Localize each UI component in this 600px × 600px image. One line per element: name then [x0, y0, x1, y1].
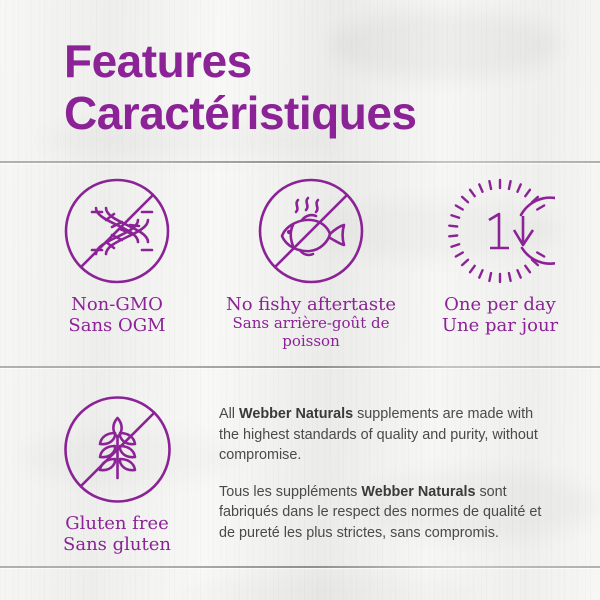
plank-seam	[0, 566, 600, 568]
page-title-fr: Caractéristiques	[64, 88, 417, 138]
feature-label-fr: Sans OGM	[37, 315, 197, 336]
feature-label-fr: Une par jour	[412, 315, 588, 336]
paragraph-en: All Webber Naturals supplements are made…	[219, 404, 554, 466]
gluten-free-wheat-icon	[60, 392, 175, 507]
paragraph-fr: Tous les suppléments Webber Naturals son…	[219, 482, 554, 544]
feature-label-en: No fishy aftertaste	[205, 294, 417, 315]
feature-label-en: Gluten free	[37, 513, 197, 534]
feature-one-per-day: One per day Une par jour	[412, 176, 588, 336]
brand-name-fr: Webber Naturals	[361, 484, 475, 500]
feature-label-fr: Sans gluten	[37, 534, 197, 555]
paragraph-en-before: All	[219, 406, 239, 422]
feature-gluten-free: Gluten free Sans gluten	[37, 392, 197, 555]
plank-seam	[0, 366, 600, 368]
brand-name-en: Webber Naturals	[239, 406, 353, 422]
wood-grain-texture	[180, 575, 480, 600]
body-copy: All Webber Naturals supplements are made…	[219, 404, 554, 559]
plank-seam	[0, 161, 600, 163]
no-gmo-dna-icon	[62, 176, 172, 286]
feature-label-en: One per day	[412, 294, 588, 315]
feature-no-fishy-aftertaste: No fishy aftertaste Sans arrière-goût de…	[205, 176, 417, 351]
features-panel: Features Caractéristiques	[0, 0, 600, 600]
feature-label-fr: Sans arrière-goût de poisson	[205, 315, 417, 350]
wood-grain-texture	[330, 10, 560, 80]
feature-label-en: Non-GMO	[37, 294, 197, 315]
paragraph-fr-before: Tous les suppléments	[219, 484, 361, 500]
one-per-day-circular-arrow-icon	[445, 176, 555, 286]
feature-non-gmo: Non-GMO Sans OGM	[37, 176, 197, 336]
no-fishy-aftertaste-fish-icon	[256, 176, 366, 286]
page-title-en: Features	[64, 36, 252, 86]
